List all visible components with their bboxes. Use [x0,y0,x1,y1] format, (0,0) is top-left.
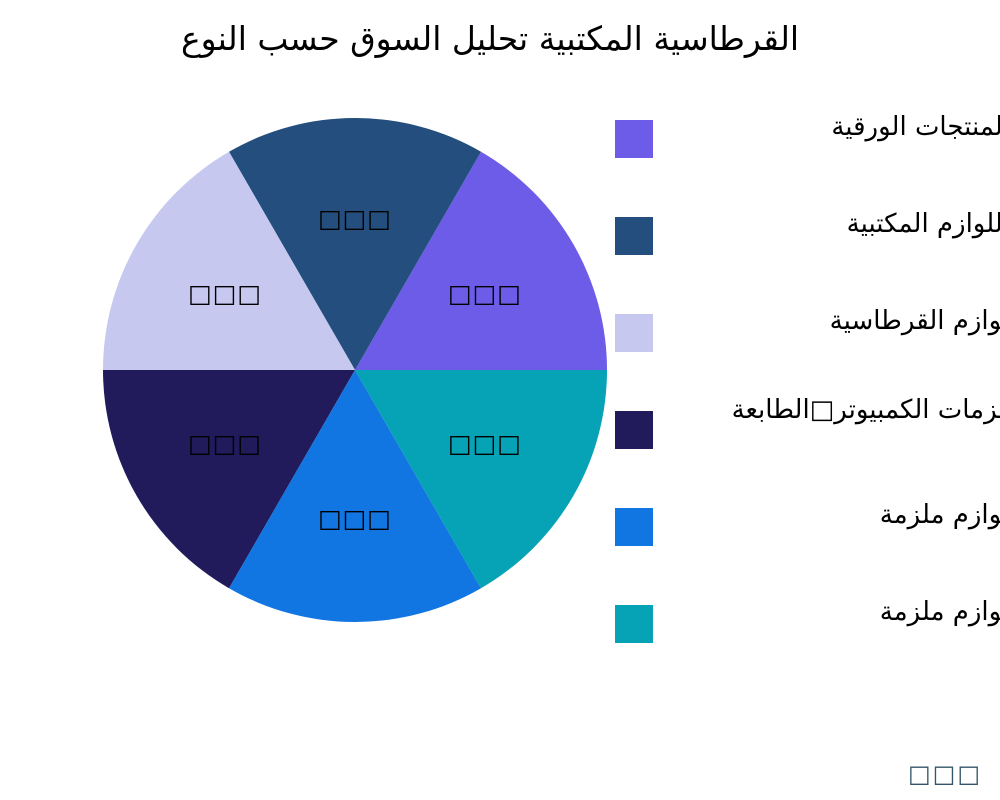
legend-item-label: لوازم ملزمة [670,597,1000,629]
corner-annotation: □□□ [908,760,982,788]
pie-chart-svg: □□□□□□□□□□□□□□□□□□ [103,118,607,622]
legend: المنتجات الورقيةاللوازم المكتبيةلوازم ال… [615,118,1000,678]
legend-item-label: مستلزمات الكمبيوتر□الطابعة [670,395,1000,427]
legend-item[interactable]: المنتجات الورقية [615,118,1000,198]
legend-item[interactable]: مستلزمات الكمبيوتر□الطابعة [615,409,1000,489]
legend-item[interactable]: اللوازم المكتبية [615,215,1000,295]
pie-slice-label: □□□ [448,429,522,458]
legend-swatch [615,217,653,255]
legend-item-label: المنتجات الورقية [670,112,1000,144]
pie-slice-label: □□□ [188,429,262,458]
legend-swatch [615,605,653,643]
page-title: القرطاسية المكتبية تحليل السوق حسب النوع [0,18,980,59]
pie-slice-label: □□□ [448,279,522,308]
legend-item-label: اللوازم المكتبية [670,209,1000,241]
legend-item[interactable]: لوازم ملزمة [615,506,1000,586]
pie-slice-label: □□□ [318,504,392,533]
pie-slice-group [103,118,607,622]
legend-swatch [615,314,653,352]
legend-item[interactable]: لوازم القرطاسية [615,312,1000,392]
legend-swatch [615,508,653,546]
pie-chart: □□□□□□□□□□□□□□□□□□ [103,118,607,622]
legend-swatch [615,120,653,158]
legend-item[interactable]: لوازم ملزمة [615,603,1000,683]
pie-slice-label: □□□ [188,279,262,308]
chart-canvas: القرطاسية المكتبية تحليل السوق حسب النوع… [0,0,1000,800]
pie-slice-label: □□□ [318,204,392,233]
legend-item-label: لوازم القرطاسية [670,306,1000,338]
legend-swatch [615,411,653,449]
legend-item-label: لوازم ملزمة [670,500,1000,532]
